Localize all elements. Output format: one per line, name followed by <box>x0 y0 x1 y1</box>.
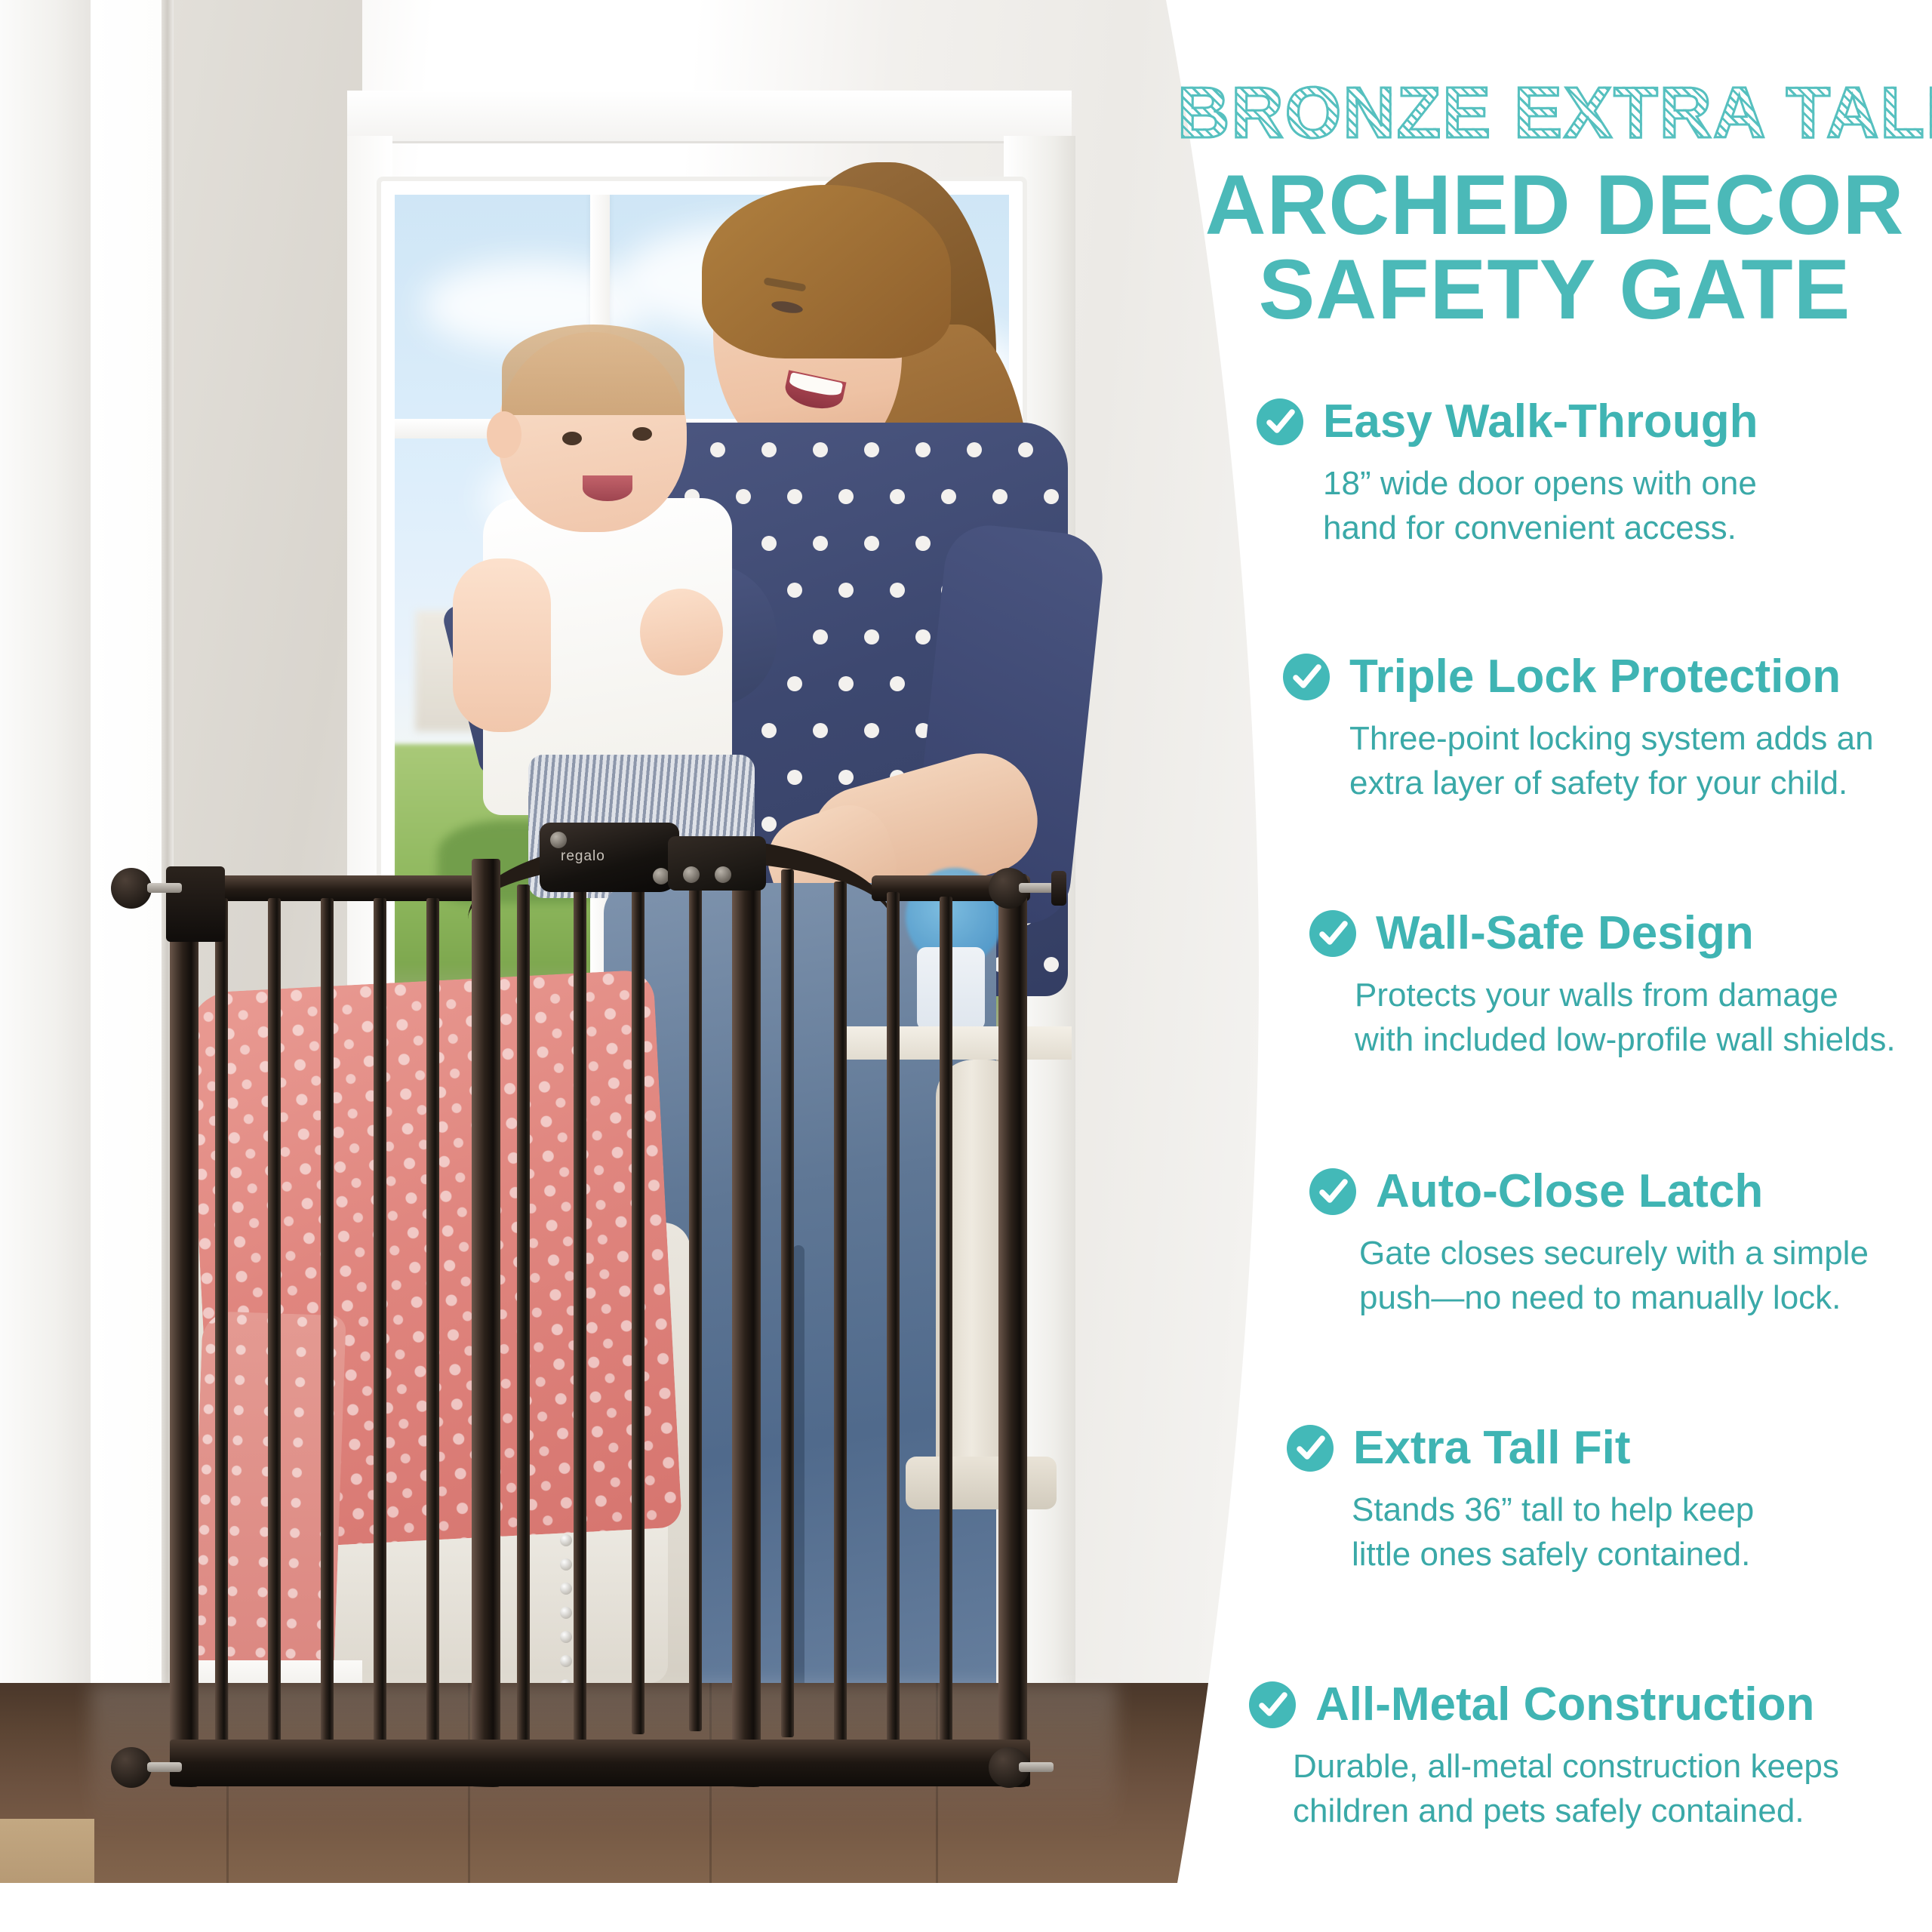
baby-eye-right <box>632 427 652 441</box>
gate-post-center-left <box>472 859 500 1787</box>
baby-ear <box>487 411 521 458</box>
door-jamb-left <box>0 0 91 1883</box>
check-circle-icon <box>1287 1425 1334 1472</box>
door-jamb-left-inner <box>91 0 162 1883</box>
feature-text-panel: BRONZE EXTRA TALL ARCHED DECOR SAFETY GA… <box>1177 0 1932 1932</box>
feature-body-line: extra layer of safety for your child. <box>1349 761 1932 806</box>
gate-wall-mount-top-left <box>166 866 225 942</box>
feature-auto-close-latch: Auto-Close Latch Gate closes securely wi… <box>1309 1168 1932 1320</box>
feature-body-line: little ones safely contained. <box>1352 1533 1932 1577</box>
title-line-safety-gate: SAFETY GATE <box>1177 248 1932 332</box>
feature-all-metal-construction: All-Metal Construction Durable, all-meta… <box>1249 1681 1932 1833</box>
infographic-canvas: regalo BRONZE EXTRA TALL ARCHED DECO <box>0 0 1932 1932</box>
gate-post-right <box>998 874 1027 1787</box>
feature-body: Stands 36” tall to help keep little ones… <box>1287 1488 1932 1577</box>
feature-title: Auto-Close Latch <box>1376 1168 1763 1215</box>
gate-bottom-rail-left <box>170 1740 487 1786</box>
baby-hand <box>640 589 723 675</box>
gate-post-left <box>170 874 198 1787</box>
check-circle-icon <box>1257 398 1303 445</box>
pressure-knob-top-left[interactable] <box>111 868 152 909</box>
feature-body-line: children and pets safely contained. <box>1293 1789 1932 1834</box>
check-circle-icon <box>1309 1168 1356 1215</box>
gate-bottom-rail-right <box>736 1740 1030 1786</box>
product-title: BRONZE EXTRA TALL ARCHED DECOR SAFETY GA… <box>1177 75 1932 332</box>
gate-post-center-right <box>732 859 761 1787</box>
feature-body-line: Stands 36” tall to help keep <box>1352 1488 1932 1533</box>
gate-bottom-rail-center <box>472 1740 743 1786</box>
feature-title: Extra Tall Fit <box>1353 1425 1631 1472</box>
feature-extra-tall-fit: Extra Tall Fit Stands 36” tall to help k… <box>1287 1425 1932 1577</box>
feature-body-line: 18” wide door opens with one <box>1323 462 1932 506</box>
check-circle-icon <box>1283 654 1330 700</box>
feature-body-line: push—no need to manually lock. <box>1359 1276 1932 1321</box>
floor-threshold-left <box>0 1819 94 1932</box>
product-lifestyle-photo: regalo <box>0 0 1283 1932</box>
feature-easy-walk-through: Easy Walk-Through 18” wide door opens wi… <box>1257 398 1932 550</box>
feature-body-line: Protects your walls from damage <box>1355 974 1932 1018</box>
baby-smile <box>583 475 632 501</box>
gate-brand-label: regalo <box>561 848 605 865</box>
feature-title: All-Metal Construction <box>1315 1681 1814 1728</box>
title-main: ARCHED DECOR SAFETY GATE <box>1177 163 1932 332</box>
check-circle-icon <box>1309 910 1356 957</box>
feature-body-line: Three-point locking system adds an <box>1349 717 1932 761</box>
feature-body-line: Gate closes securely with a simple <box>1359 1232 1932 1276</box>
feature-body: 18” wide door opens with one hand for co… <box>1257 462 1932 550</box>
feature-title: Triple Lock Protection <box>1349 654 1841 700</box>
feature-body: Protects your walls from damage with inc… <box>1309 974 1932 1062</box>
pressure-knob-bottom-left[interactable] <box>111 1747 152 1788</box>
safety-gate: regalo <box>170 853 1030 1826</box>
feature-body: Three-point locking system adds an extra… <box>1283 717 1932 805</box>
feature-body-line: hand for convenient access. <box>1323 506 1932 551</box>
baby-hair <box>502 325 685 415</box>
feature-wall-safe-design: Wall-Safe Design Protects your walls fro… <box>1309 910 1932 1062</box>
feature-body: Gate closes securely with a simple push—… <box>1309 1232 1932 1320</box>
title-line-arched-decor: ARCHED DECOR <box>1177 163 1932 248</box>
woman-hair-front <box>702 185 951 358</box>
feature-body-line: Durable, all-metal construction keeps <box>1293 1745 1932 1789</box>
baby-arm <box>453 558 551 732</box>
feature-title: Wall-Safe Design <box>1376 910 1754 957</box>
title-line-bronze-extra-tall: BRONZE EXTRA TALL <box>1177 75 1932 151</box>
feature-body-line: with included low-profile wall shields. <box>1355 1018 1932 1063</box>
baby-eye-left <box>562 432 582 445</box>
check-circle-icon <box>1249 1681 1296 1728</box>
gate-hinge-block <box>668 836 766 891</box>
door-casing-header <box>347 91 1072 143</box>
feature-body: Durable, all-metal construction keeps ch… <box>1249 1745 1932 1833</box>
feature-triple-lock-protection: Triple Lock Protection Three-point locki… <box>1283 654 1932 805</box>
gate-latch-mechanism: regalo <box>540 823 679 892</box>
feature-title: Easy Walk-Through <box>1323 398 1758 445</box>
